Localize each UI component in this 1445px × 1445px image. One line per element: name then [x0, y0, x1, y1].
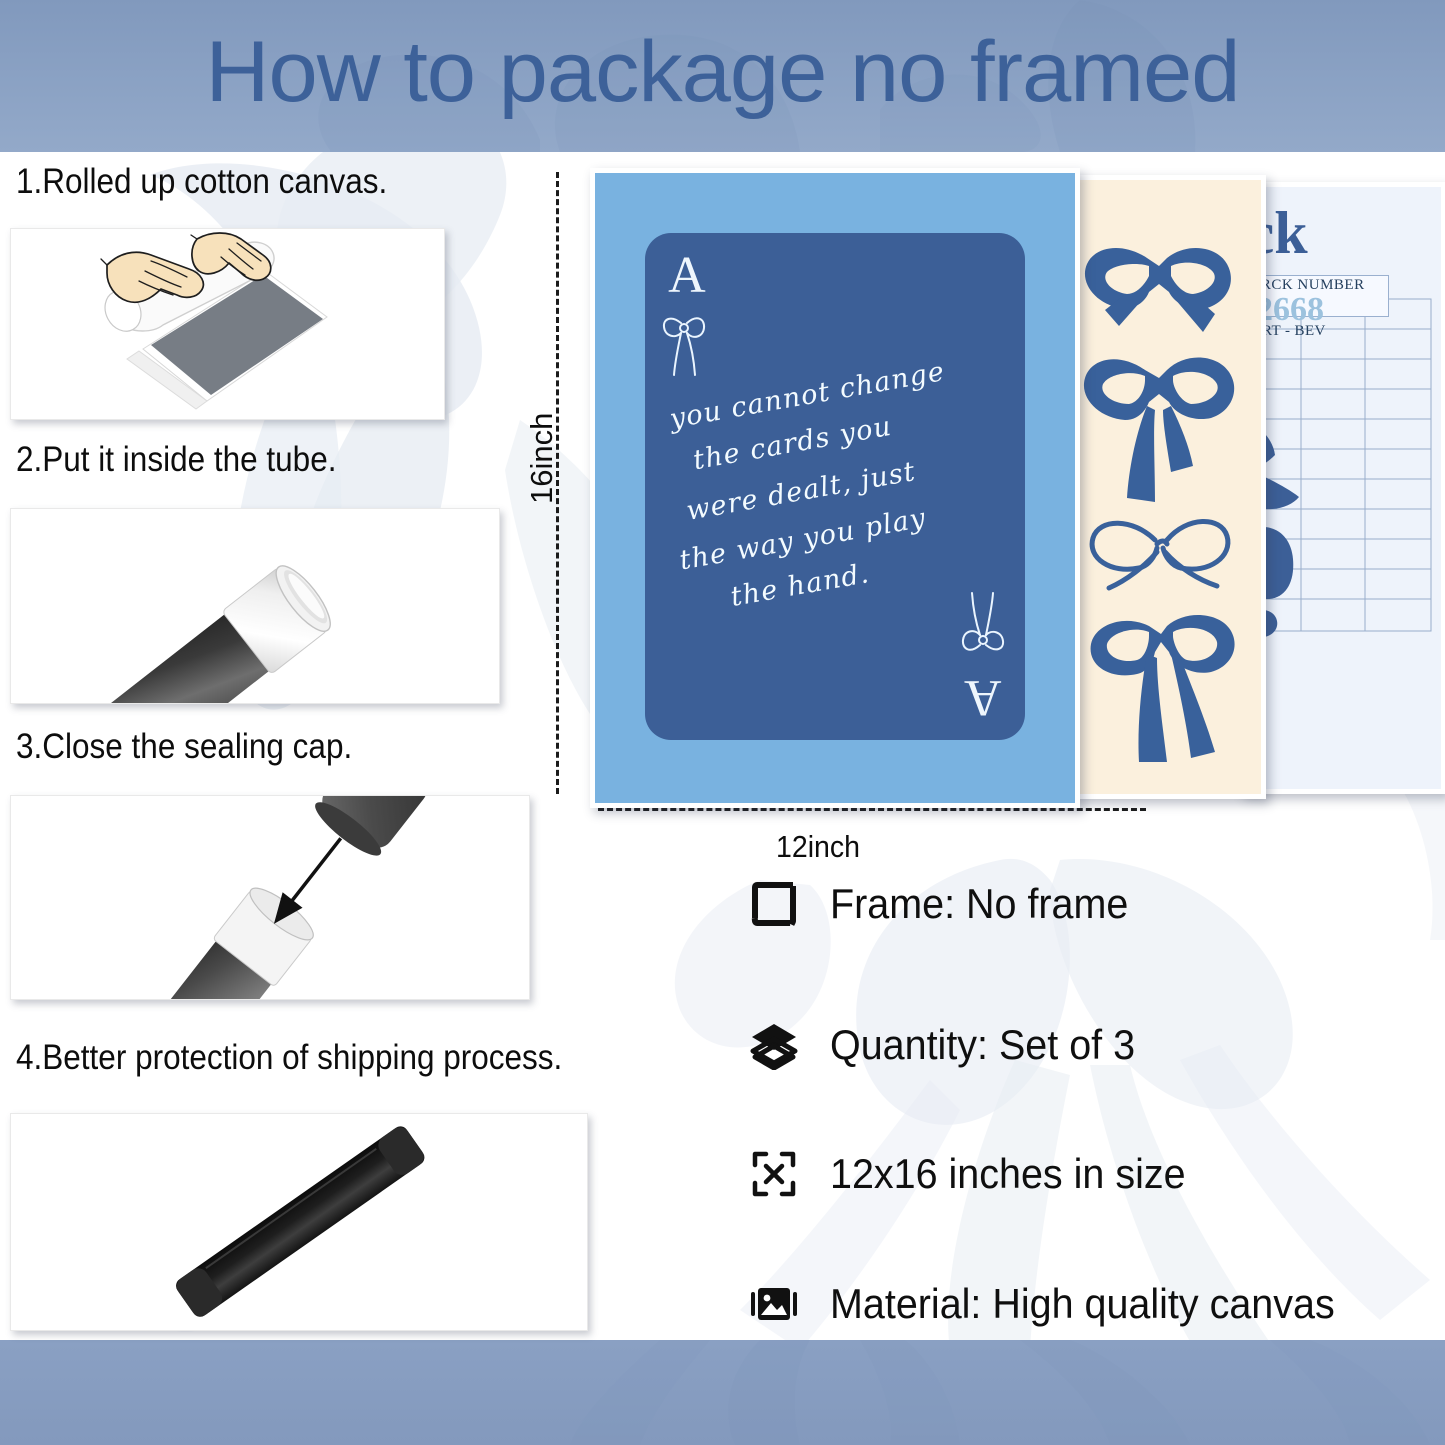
step-3-label: 3.Close the sealing cap. [16, 727, 352, 767]
step-1-label: 1.Rolled up cotton canvas. [16, 162, 387, 202]
step-2-illustration [10, 508, 500, 704]
step-2-label: 2.Put it inside the tube. [16, 440, 336, 480]
image-picture-icon [748, 1278, 800, 1330]
bows-poster [1070, 175, 1266, 799]
width-dimension-label: 12inch [776, 830, 860, 864]
spec-row-size: 12x16 inches in size [748, 1148, 1208, 1200]
quote-line-1: you cannot change [667, 356, 947, 435]
ace-card-poster: A you cannot change the cards you [590, 168, 1080, 808]
footer-watermark-bow [0, 1340, 1445, 1445]
step-1-illustration [10, 228, 445, 420]
header-band: How to package no framed [0, 0, 1445, 152]
infographic-root: How to package no framed 1.Rolled up cot… [0, 0, 1445, 1445]
guest-check-poster: eck CHRCK NUMBER 92668 SSERT - BEV AX AL… [1240, 182, 1445, 794]
step-3-illustration [10, 795, 530, 1000]
spec-row-quantity: Quantity: Set of 3 [748, 1019, 1155, 1071]
spec-material-text: Material: High quality canvas [830, 1280, 1335, 1328]
playing-card-shape: A you cannot change the cards you [645, 233, 1024, 740]
layers-stack-icon [748, 1019, 800, 1071]
bow-outline-icon-bottom [960, 587, 1006, 659]
page-title: How to package no framed [0, 12, 1445, 132]
quote-block: you cannot change the cards you were dea… [661, 380, 1010, 608]
expand-arrows-icon [748, 1148, 800, 1200]
quote-line-5: the hand. [729, 558, 873, 613]
spec-quantity-text: Quantity: Set of 3 [830, 1021, 1135, 1069]
dashed-frame-icon [748, 878, 800, 930]
spec-row-material: Material: High quality canvas [748, 1278, 1367, 1330]
width-guide-line [598, 808, 1146, 811]
footer-band [0, 1340, 1445, 1445]
height-dimension-label: 16inch [524, 413, 560, 504]
step-4-label: 4.Better protection of shipping process. [16, 1038, 562, 1078]
ace-letter-top-left: A [668, 251, 706, 301]
poster-group: eck CHRCK NUMBER 92668 SSERT - BEV AX AL… [590, 168, 1445, 808]
spec-frame-text: Frame: No frame [830, 880, 1128, 928]
ace-letter-bottom-right: A [964, 672, 1002, 722]
spec-size-text: 12x16 inches in size [830, 1150, 1186, 1198]
spec-row-frame: Frame: No frame [748, 878, 1147, 930]
step-4-illustration [10, 1113, 588, 1331]
bow-outline-icon-top [661, 309, 707, 381]
